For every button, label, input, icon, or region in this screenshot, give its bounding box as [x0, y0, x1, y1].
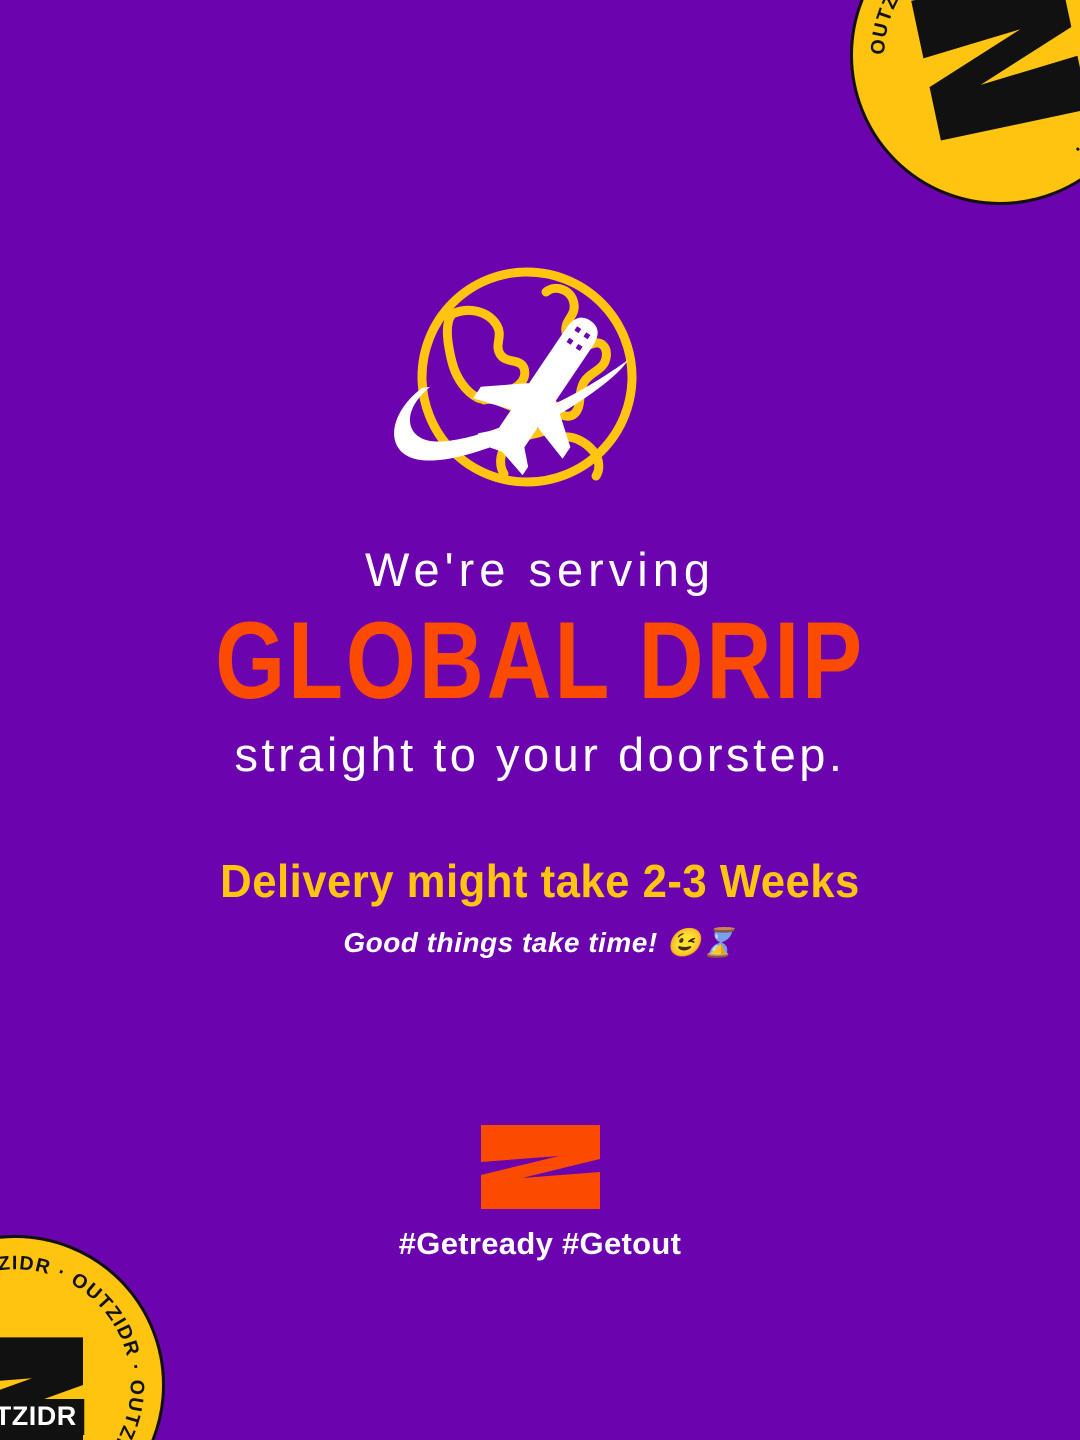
eyebrow-text: We're serving [0, 545, 1080, 594]
badge-bottom-left: OUTZIDR · OUTZIDR · OUTZIDR · OUTZIDR · … [0, 1235, 165, 1440]
hashtags-text: #Getready #Getout [0, 1226, 1080, 1262]
delivery-notice: Delivery might take 2-3 Weeks [27, 854, 1053, 908]
page-title: GLOBAL DRIP [43, 602, 1037, 721]
globe-airplane-illustration [0, 262, 1080, 502]
delivery-subtext: Good things take time! 😉⌛ [0, 926, 1080, 959]
main-content: We're serving GLOBAL DRIP straight to yo… [0, 545, 1080, 959]
footer: #Getready #Getout [0, 1122, 1080, 1262]
poster-canvas: OUTZIDR · OUTZIDR · OUTZIDR · OUTZIDR · … [0, 0, 1080, 1440]
badge-top-right: OUTZIDR · OUTZIDR · OUTZIDR · OUTZIDR · [850, 0, 1080, 205]
badge-wordmark-bottom-left: OUTZIDR [0, 1399, 85, 1435]
z-monogram-icon-footer [478, 1122, 603, 1212]
subline-text: straight to your doorstep. [0, 730, 1080, 779]
